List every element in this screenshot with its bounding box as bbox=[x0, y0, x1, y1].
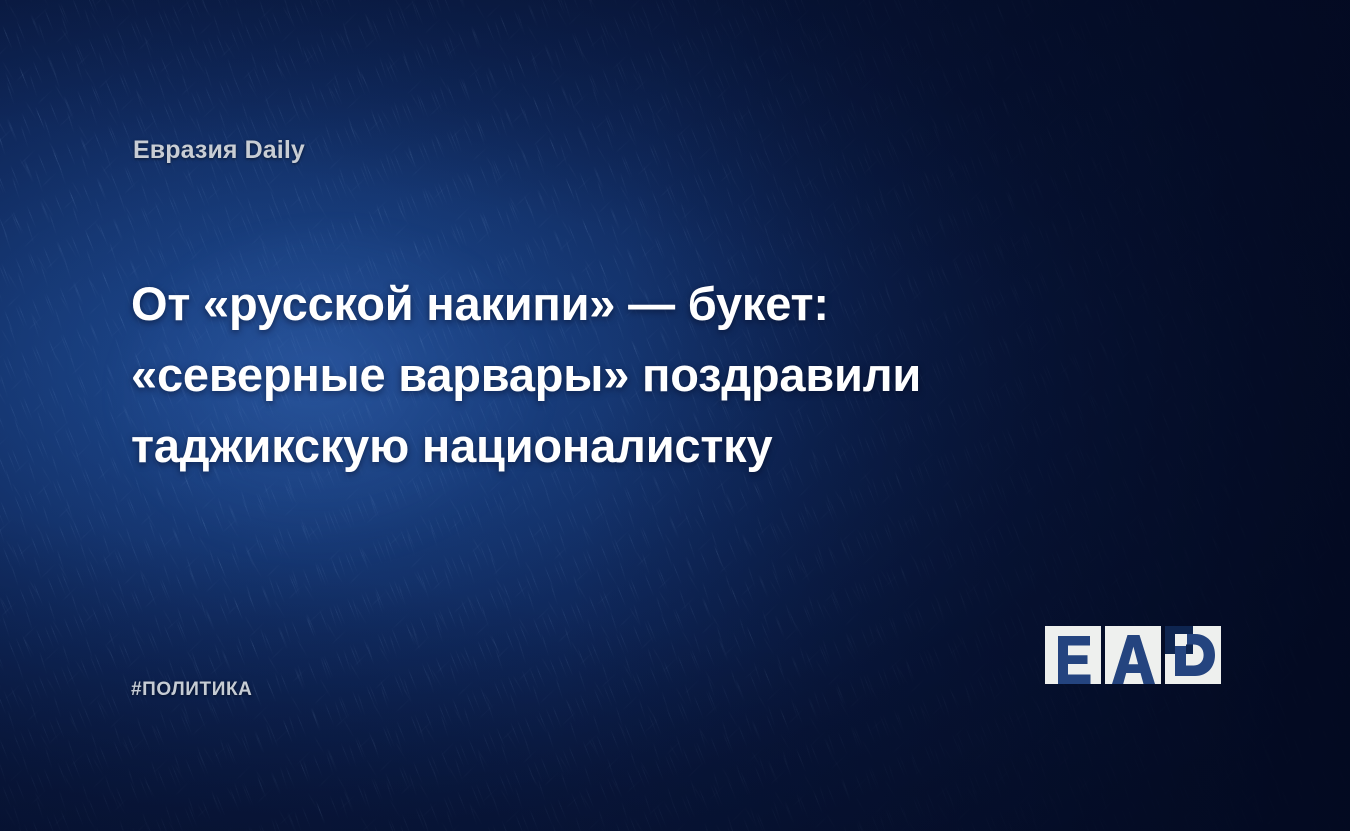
page-title: От «русской накипи» — букет: «северные в… bbox=[131, 268, 1081, 481]
ead-logo bbox=[1045, 626, 1221, 684]
brand-title: Евразия Daily bbox=[133, 136, 305, 165]
news-card: Евразия Daily От «русской накипи» — буке… bbox=[0, 0, 1350, 831]
logo-tile-d-icon bbox=[1165, 626, 1221, 684]
logo-tile-a-icon bbox=[1105, 626, 1161, 684]
card-content: Евразия Daily От «русской накипи» — буке… bbox=[0, 0, 1350, 831]
logo-tile-e-icon bbox=[1045, 626, 1101, 684]
category-tag: #ПОЛИТИКА bbox=[131, 679, 253, 701]
